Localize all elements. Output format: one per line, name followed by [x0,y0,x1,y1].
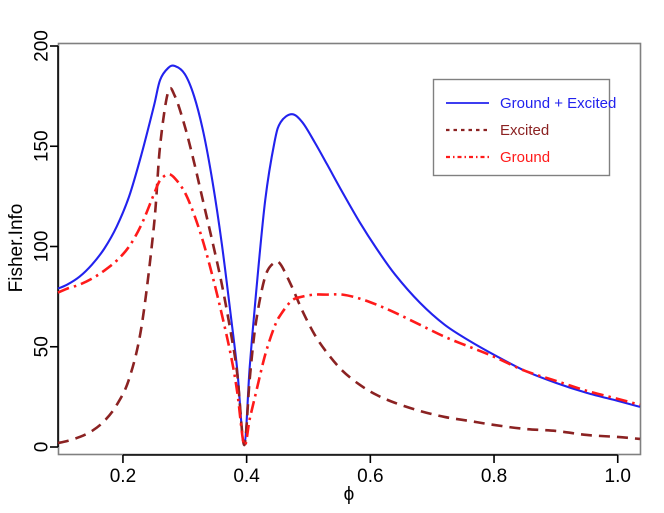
y-tick-label: 200 [32,30,53,62]
y-tick-label: 50 [32,336,53,357]
fisher-info-line-chart: 050100150200 0.20.40.60.81.0 Fisher.Info… [0,0,664,513]
legend-label-ground-excited: Ground + Excited [500,95,616,112]
chart-container: 050100150200 0.20.40.60.81.0 Fisher.Info… [0,0,664,513]
x-tick-label: 0.4 [233,466,260,487]
y-axis-title: Fisher.Info [6,204,27,293]
legend-label-excited: Excited [500,122,549,139]
x-tick-label: 0.8 [481,466,507,487]
y-tick-label: 0 [32,442,53,453]
x-tick-label: 0.2 [110,466,136,487]
x-tick-label: 0.6 [357,466,383,487]
x-tick-label: 1.0 [605,466,631,487]
legend-label-ground: Ground [500,149,550,166]
legend[interactable]: Ground + ExcitedExcitedGround [434,80,617,176]
y-tick-label: 100 [32,231,53,263]
y-tick-label: 150 [32,130,53,162]
x-axis-title: ϕ [344,484,355,505]
